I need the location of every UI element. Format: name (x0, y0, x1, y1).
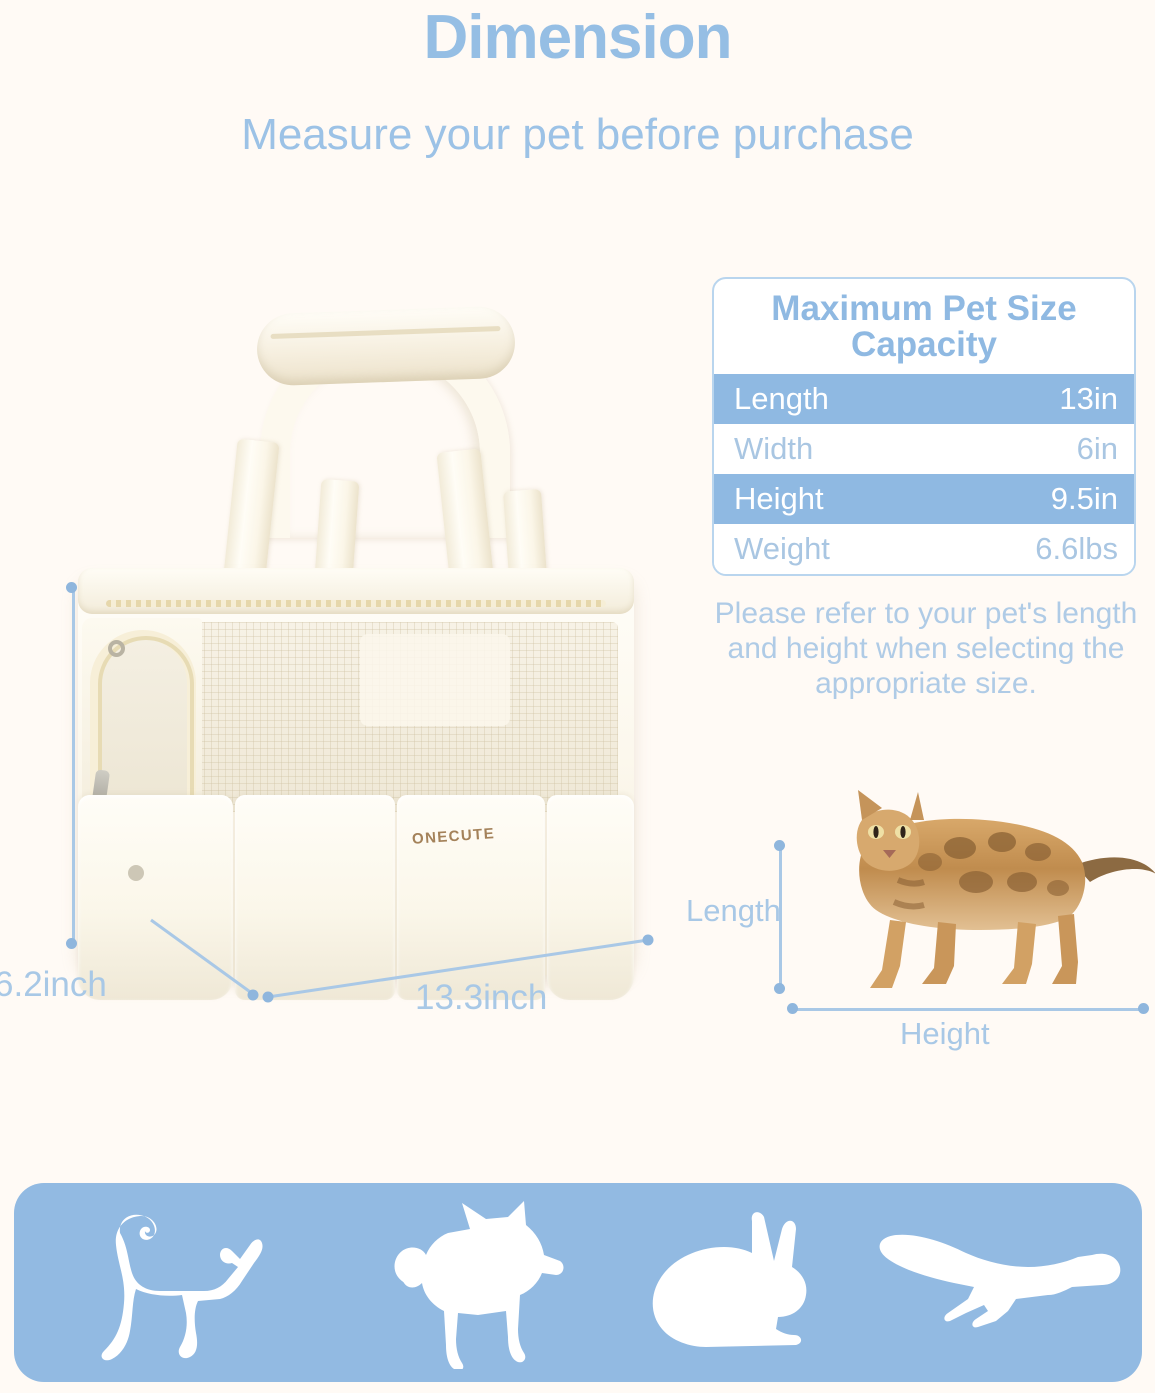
page-title: Dimension (0, 2, 1155, 73)
carrier-top-lid (78, 568, 634, 614)
pet-dimension-dot-left (787, 1003, 798, 1014)
infographic-page: Dimension Measure your pet before purcha… (0, 0, 1155, 1393)
pet-dimension-label-horizontal: Height (900, 1016, 990, 1052)
table-row: Height 9.5in (714, 474, 1134, 524)
dimension-line-height (72, 588, 75, 943)
carrier-zipper-tab-icon (108, 640, 125, 657)
capacity-table: Maximum Pet Size Capacity Length 13in Wi… (712, 277, 1136, 576)
carrier-inner-cushion (360, 634, 510, 726)
capacity-row-value: 9.5in (1051, 481, 1118, 517)
pet-dimension-dot-right (1138, 1003, 1149, 1014)
capacity-row-value: 13in (1059, 381, 1118, 417)
capacity-row-label: Length (734, 381, 1059, 417)
table-row: Weight 6.6lbs (714, 524, 1134, 574)
capacity-row-label: Width (734, 431, 1077, 467)
lizard-silhouette-icon (866, 1229, 1126, 1349)
carrier-handle-pad (256, 306, 516, 387)
cat-silhouette-icon (60, 1209, 270, 1369)
carrier-pocket-2 (235, 795, 395, 1000)
page-subtitle: Measure your pet before purchase (0, 110, 1155, 160)
pet-dimension-label-vertical: Length (686, 893, 781, 929)
pet-reference-cat-image (770, 770, 1155, 1000)
dimension-dot-height-bottom (66, 938, 77, 949)
capacity-row-value: 6in (1077, 431, 1118, 467)
carrier-top-zipper (106, 600, 606, 607)
capacity-row-label: Height (734, 481, 1051, 517)
pet-dimension-dot-top (774, 840, 785, 851)
pet-dimension-line-horizontal (792, 1008, 1144, 1011)
capacity-row-value: 6.6lbs (1035, 531, 1118, 567)
capacity-row-label: Weight (734, 531, 1035, 567)
table-row: Length 13in (714, 374, 1134, 424)
table-row: Width 6in (714, 424, 1134, 474)
carrier-foot-stud (128, 865, 144, 881)
capacity-note: Please refer to your pet's length and he… (706, 596, 1146, 701)
supported-pets-banner (14, 1183, 1142, 1382)
product-image-pet-carrier: ONECUTE (60, 300, 680, 1000)
dog-silhouette-icon (366, 1199, 566, 1369)
rabbit-silhouette-icon (646, 1209, 846, 1369)
dimension-label-height: 9.8inch (0, 704, 5, 817)
pet-dimension-dot-bottom (774, 983, 785, 994)
carrier-pocket-4 (547, 795, 634, 1000)
capacity-table-heading: Maximum Pet Size Capacity (714, 279, 1134, 374)
dimension-label-depth: 6.2inch (0, 965, 107, 1005)
dimension-label-width: 13.3inch (415, 978, 547, 1018)
dimension-dot-height-top (66, 582, 77, 593)
